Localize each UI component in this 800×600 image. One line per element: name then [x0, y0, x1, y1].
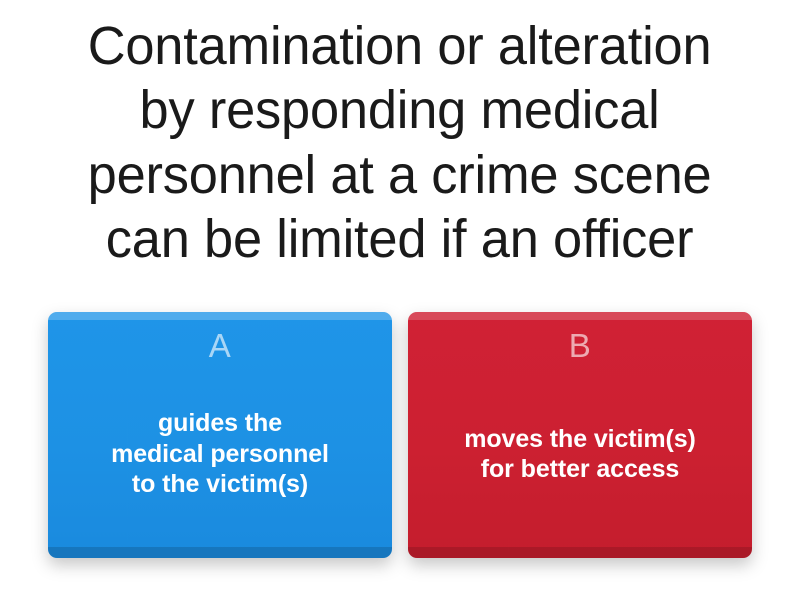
answer-body-b: moves the victim(s) for better access — [408, 362, 752, 558]
answer-card-a[interactable]: A guides the medical personnel to the vi… — [48, 312, 392, 558]
question-text: Contamination or alteration by respondin… — [88, 14, 712, 271]
answer-text-a: guides the medical personnel to the vict… — [111, 408, 329, 500]
answer-body-a: guides the medical personnel to the vict… — [48, 362, 392, 558]
answer-options-container: A guides the medical personnel to the vi… — [0, 312, 800, 574]
answer-card-b[interactable]: B moves the victim(s) for better access — [408, 312, 752, 558]
quiz-slide: Contamination or alteration by respondin… — [0, 0, 800, 600]
answer-letter-a: A — [209, 329, 232, 362]
answer-text-b: moves the victim(s) for better access — [464, 424, 696, 485]
answer-letter-b: B — [569, 329, 592, 362]
question-area: Contamination or alteration by respondin… — [0, 0, 800, 300]
